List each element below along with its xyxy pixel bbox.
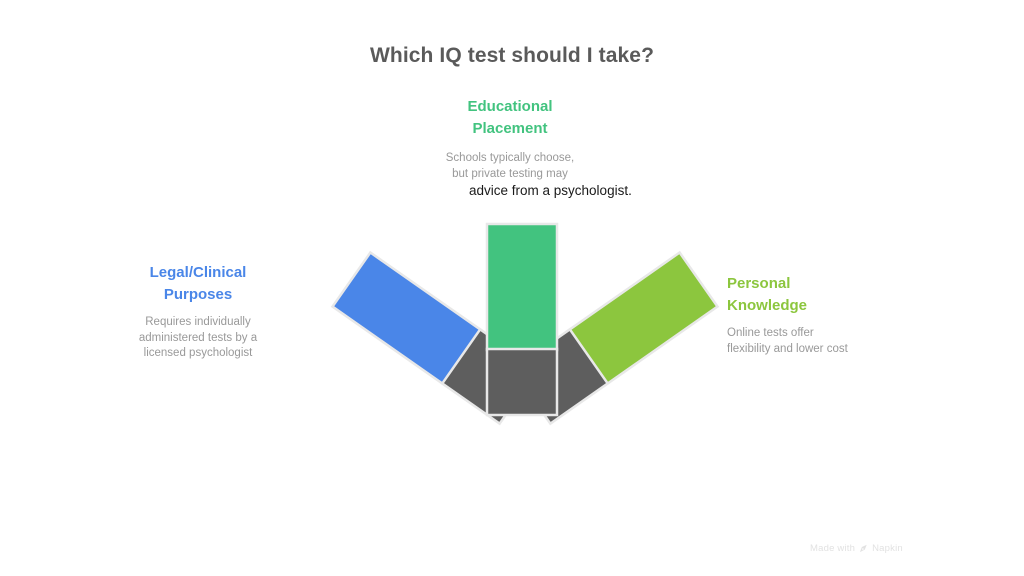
branch-desc-line-2: flexibility and lower cost <box>727 342 942 358</box>
pin-educational-placement[interactable] <box>487 224 557 415</box>
watermark-brand: Napkin <box>872 543 903 554</box>
pin-shaft-green <box>487 224 557 350</box>
branch-desc-line-2: administered tests by a <box>98 331 298 347</box>
branch-heading-line-2: Placement <box>395 118 625 140</box>
pin-head-green <box>487 349 557 415</box>
branch-description-legal-clinical-purposes: Requires individually administered tests… <box>98 315 298 362</box>
watermark-text: Made with <box>810 543 855 554</box>
branch-desc-line-1: Schools typically choose, <box>395 151 625 167</box>
pen-nib-icon <box>859 544 868 553</box>
branch-heading-educational-placement: Educational Placement <box>395 96 625 139</box>
branch-label-personal-knowledge: Personal Knowledge Online tests offer fl… <box>727 273 942 357</box>
branch-heading-line-2: Purposes <box>98 284 298 306</box>
branch-desc-line-2: but private testing may <box>395 167 625 183</box>
branch-heading-line-1: Educational <box>395 96 625 118</box>
branch-label-legal-clinical-purposes: Legal/Clinical Purposes Requires individ… <box>98 262 298 362</box>
branch-heading-legal-clinical-purposes: Legal/Clinical Purposes <box>98 262 298 305</box>
branch-heading-line-1: Legal/Clinical <box>98 262 298 284</box>
branch-heading-line-1: Personal <box>727 273 942 295</box>
watermark: Made with Napkin <box>810 543 903 554</box>
slide-canvas: Which IQ test should I take? Educational… <box>0 0 1024 576</box>
branch-desc-line-1: Requires individually <box>98 315 298 331</box>
branch-heading-personal-knowledge: Personal Knowledge <box>727 273 942 316</box>
branch-heading-line-2: Knowledge <box>727 295 942 317</box>
branch-desc-line-3: licensed psychologist <box>98 346 298 362</box>
branch-desc-line-1: Online tests offer <box>727 326 942 342</box>
branch-description-personal-knowledge: Online tests offer flexibility and lower… <box>727 326 942 357</box>
overlay-edited-text[interactable]: advice from a psychologist. <box>466 181 634 201</box>
